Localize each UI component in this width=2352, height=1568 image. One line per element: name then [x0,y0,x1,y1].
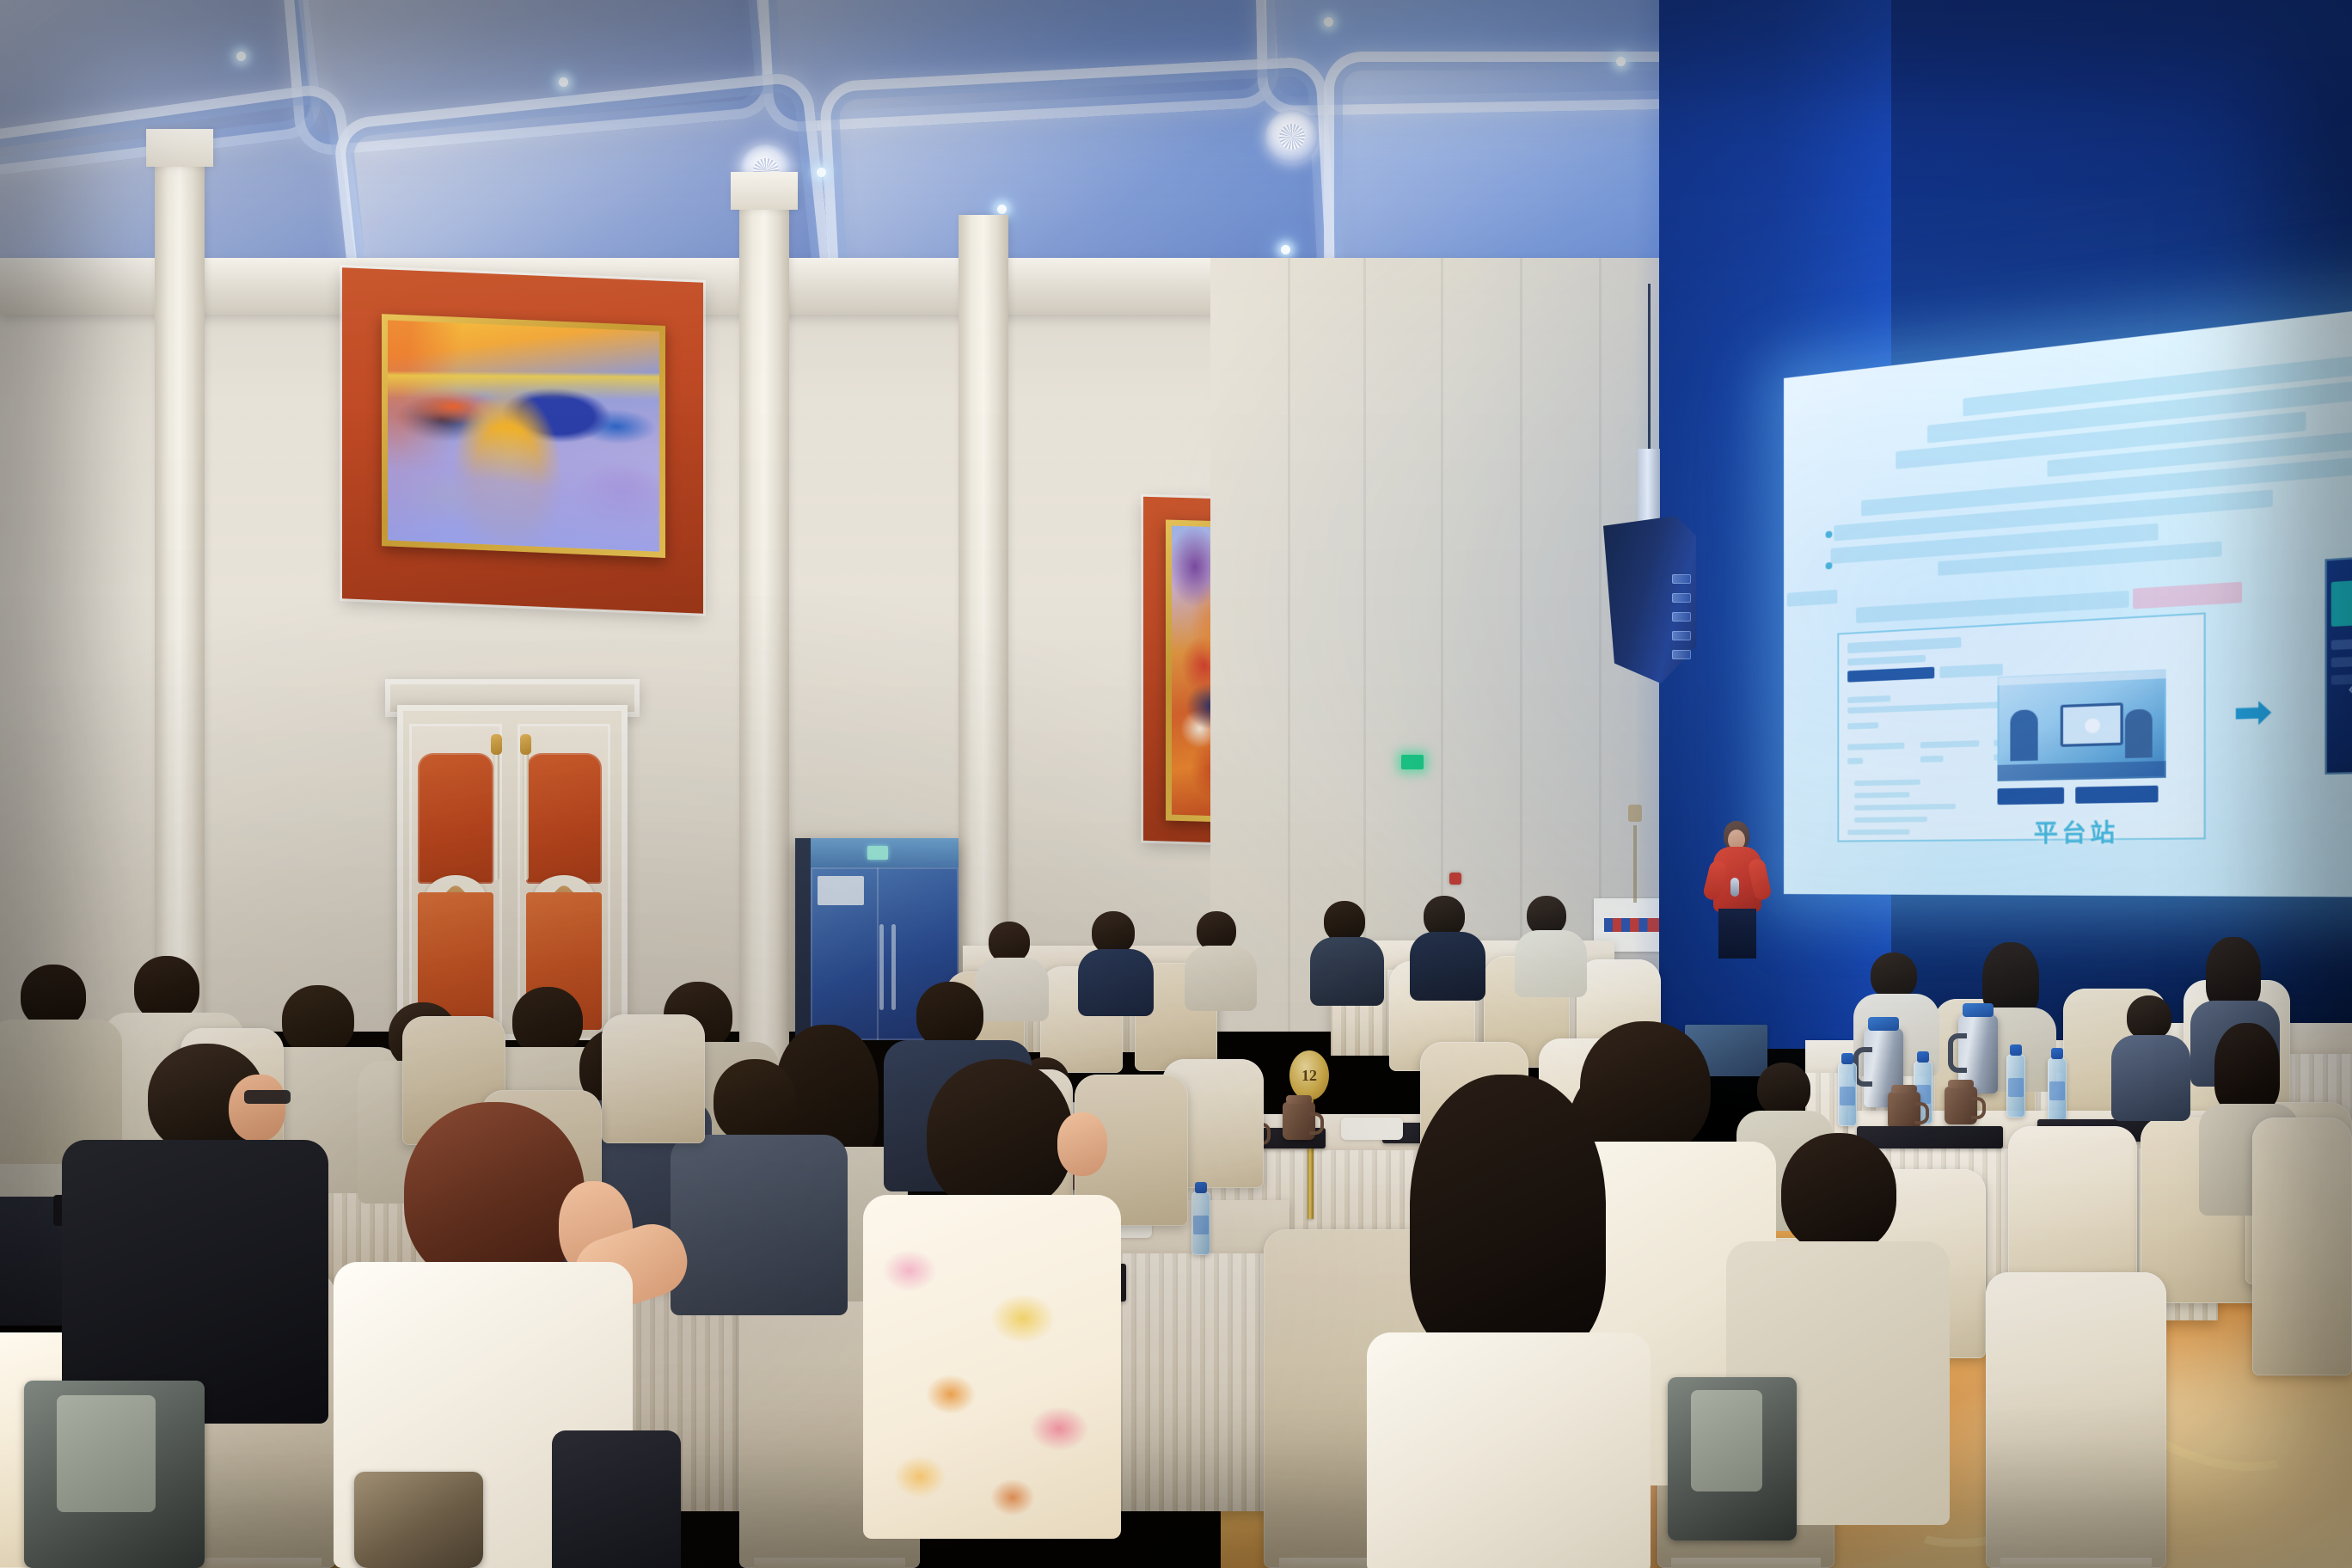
card-badge [1847,667,1934,683]
secondary-action-button[interactable] [2075,786,2158,804]
wall-pilaster [739,198,789,1066]
card-list-line [1854,780,1920,787]
banquet-chair [2252,1118,2352,1375]
handheld-microphone [1730,878,1739,897]
app-screenshot-card: ‹ [2324,546,2352,775]
attendee-face [1057,1112,1107,1176]
card-thumbnail-image [1998,669,2166,781]
ceramic-lidded-teacup [1888,1092,1920,1130]
line-array-speaker [1603,516,1696,683]
slide-bullet-icon [1826,530,1833,538]
card-list-line [1854,804,1956,811]
handbag [354,1472,483,1568]
presenter [1706,821,1768,959]
water-bottle [2048,1057,2067,1121]
fridge-display-badge [867,846,888,860]
attendee-hair [1410,1075,1606,1358]
speaker-mount-pole [1638,449,1660,523]
water-bottle [1191,1191,1210,1255]
right-arrow-icon: ➡ [2234,691,2272,734]
speaker-rib [1672,631,1691,640]
chair-skirt [1671,1558,1820,1568]
slide-text-block [1787,590,1837,607]
projection-screen[interactable]: ➡ ‹ 平台站 [1784,304,2352,897]
attendee-face [229,1075,285,1142]
fridge-handle-left[interactable] [879,924,884,1010]
speaker-rib [1672,612,1691,622]
attendee-hair [1580,1021,1711,1155]
slide-highlight-block [2133,582,2242,609]
ceiling-downlight [997,205,1007,214]
chair-skirt [2000,1558,2152,1568]
attendee-blouse [1367,1332,1651,1568]
speaker-rib [1672,650,1691,659]
door-upper-panel [526,753,602,884]
table-number-badge: 12 [1289,1050,1329,1100]
conference-hall-photo: ➡ ‹ 平台站 [0,0,2352,1568]
ceramic-lidded-teacup [1945,1087,1977,1124]
eyeglasses-icon [244,1090,291,1104]
app-row [2331,649,2352,667]
card-text-line [1939,664,2002,678]
wall-seam [1520,258,1522,1032]
card-stat-label [1920,740,1980,748]
attendee-hair [927,1059,1073,1212]
wall-seam [1288,258,1290,1032]
door-upper-panel [418,753,493,884]
app-chevron-left-icon: ‹ [2348,678,2352,700]
chair-skirt [754,1558,905,1568]
fridge-handle-right[interactable] [891,924,896,1010]
speaker-rib [1672,593,1691,603]
leather-desk-pad [1857,1126,2003,1148]
wall-pilaster [155,155,205,1066]
fridge-door-seam [877,867,879,1040]
ceiling-downlight [236,52,246,61]
fridge-label-sticker [818,876,864,905]
folded-napkin [1341,1118,1403,1140]
app-tile [2331,579,2352,627]
card-list-line [1854,792,1909,798]
banquet-chair-foreground [1986,1272,2166,1568]
ceiling-downlight [1616,57,1626,66]
card-text-line [1847,695,1890,703]
exit-sign-icon [1401,755,1424,769]
primary-action-button[interactable] [1998,787,2065,805]
card-stat-value [1847,758,1863,765]
painting-frame-horizontal [382,314,665,558]
speaker-rib [1672,574,1691,584]
wall-pilaster-capital [146,129,213,167]
ceiling-downlight [817,168,826,177]
webpage-screenshot-card [1837,612,2206,842]
card-stat-label [1847,743,1904,750]
door-handle-right[interactable] [523,751,529,880]
ceiling-downlight [559,77,568,87]
ceiling-downlight [1324,17,1333,27]
attendee-trousers [552,1430,681,1568]
wall-pilaster-capital [731,172,798,210]
water-bottle [2006,1054,2025,1118]
backpack [1668,1377,1797,1540]
abstract-landscape-painting [388,320,659,551]
fire-alarm-icon [1449,873,1461,885]
presenter-skirt [1718,909,1756,959]
artwork-red-panel-1 [342,267,703,614]
ceiling-rosette [1265,110,1319,163]
ceiling-downlight [1281,245,1290,254]
slide-bullet-icon [1826,562,1833,570]
ceramic-lidded-teacup [1283,1102,1315,1140]
banquet-chair [602,1014,705,1143]
attendee-hair [404,1102,585,1288]
ballroom-double-doors[interactable] [397,705,628,1040]
backpack [24,1381,205,1568]
card-text-line [1847,637,1961,653]
door-handle-left[interactable] [493,751,499,880]
door-leaf-left[interactable] [409,724,502,1040]
card-stat-value [1920,756,1944,763]
water-bottle [1838,1063,1857,1126]
card-text-line [1847,722,1878,729]
attendee-floral-blouse [863,1195,1121,1539]
app-row [2331,631,2352,650]
card-text-line [1847,655,1926,666]
